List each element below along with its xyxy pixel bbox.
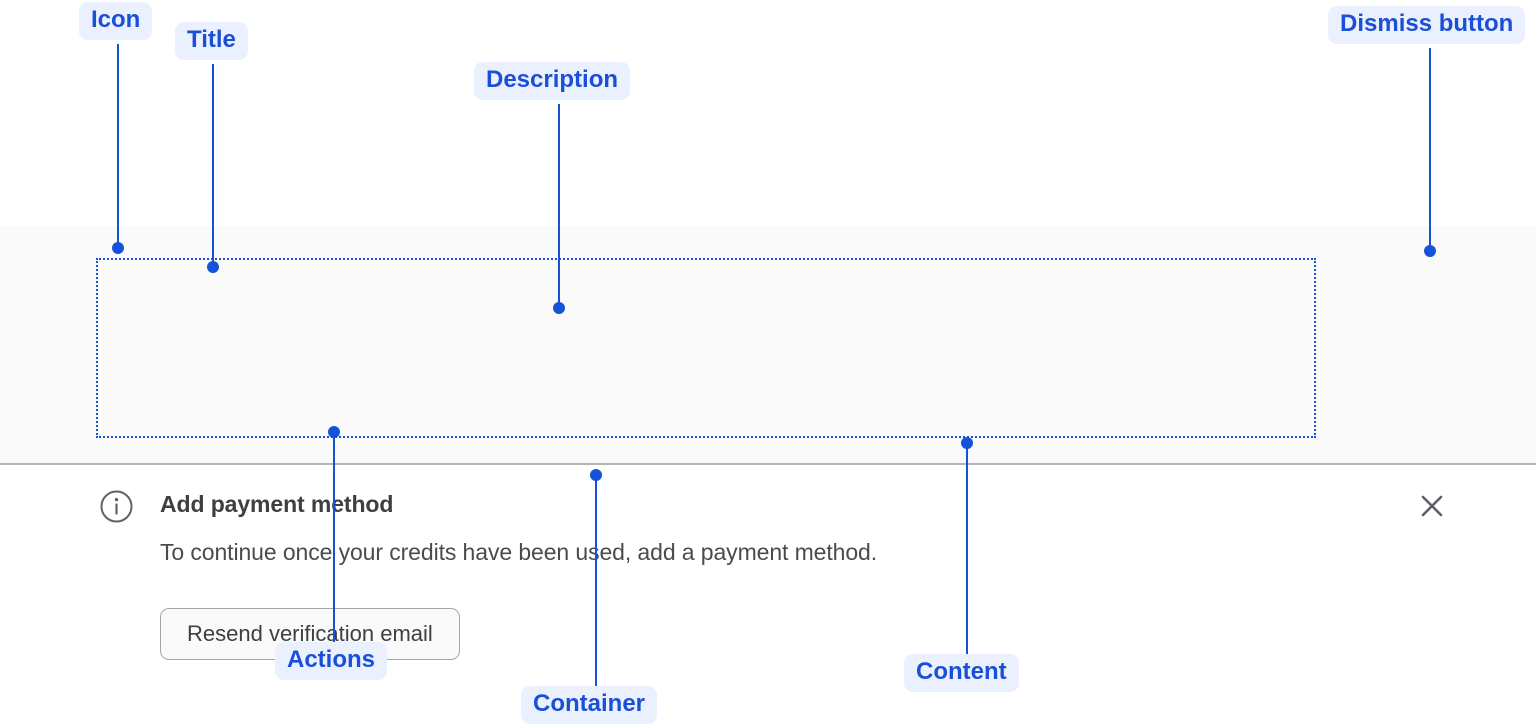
annotation-dot-description xyxy=(553,302,565,314)
annotation-leader-content xyxy=(966,443,968,654)
annotation-label-actions: Actions xyxy=(275,642,387,680)
banner-description: To continue once your credits have been … xyxy=(160,539,877,566)
annotation-label-title: Title xyxy=(175,22,248,60)
dismiss-button[interactable] xyxy=(1415,489,1449,523)
annotation-label-actions-text: Actions xyxy=(287,646,375,673)
annotation-leader-title xyxy=(212,64,214,267)
banner-title: Add payment method xyxy=(160,491,393,518)
notification-banner-container: Add payment method To continue once your… xyxy=(0,226,1536,465)
annotation-leader-dismiss xyxy=(1429,48,1431,251)
annotation-label-dismiss-text: Dismiss button xyxy=(1340,10,1513,37)
annotation-leader-container xyxy=(595,475,597,686)
annotation-leader-icon xyxy=(117,44,119,250)
annotated-notification-banner-diagram: Add payment method To continue once your… xyxy=(0,0,1536,724)
annotation-dot-icon xyxy=(112,242,124,254)
annotation-label-icon-text: Icon xyxy=(91,6,140,33)
annotation-label-dismiss: Dismiss button xyxy=(1328,6,1525,44)
annotation-label-content-text: Content xyxy=(916,658,1007,685)
annotation-label-description-text: Description xyxy=(486,66,618,93)
annotation-leader-actions xyxy=(333,432,335,642)
annotation-leader-description xyxy=(558,104,560,308)
annotation-label-description: Description xyxy=(474,62,630,100)
info-circle-icon xyxy=(100,490,133,523)
annotation-label-icon: Icon xyxy=(79,2,152,40)
annotation-label-content: Content xyxy=(904,654,1019,692)
annotation-dot-title xyxy=(207,261,219,273)
annotation-label-container-text: Container xyxy=(533,690,645,717)
annotation-dot-dismiss xyxy=(1424,245,1436,257)
close-x-icon xyxy=(1415,489,1449,523)
annotation-label-container: Container xyxy=(521,686,657,724)
annotation-label-title-text: Title xyxy=(187,26,236,53)
